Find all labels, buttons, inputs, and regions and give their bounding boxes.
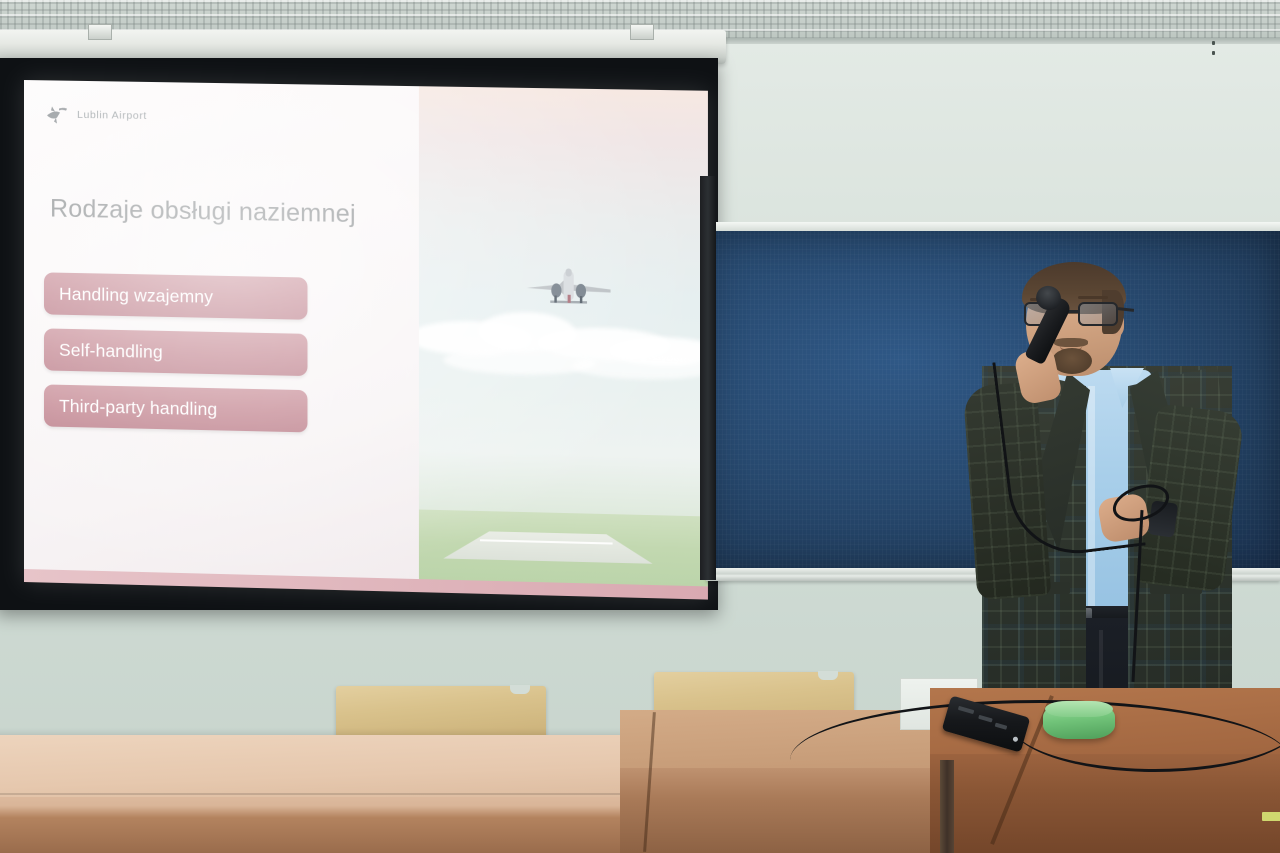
roller-bracket-left <box>88 24 112 40</box>
chair-left <box>336 686 546 738</box>
wall-screw-icon <box>1212 51 1215 55</box>
upper-right-wall <box>700 44 1280 234</box>
table-back-surface <box>0 735 720 797</box>
slide-title: Rodzaje obsługi naziemnej <box>50 194 393 229</box>
chair-notch <box>510 685 530 694</box>
slide-pill-item: Handling wzajemny <box>44 272 307 319</box>
slide-pill-label: Third-party handling <box>59 395 217 420</box>
slide-left-pane: Lublin Airport Rodzaje obsługi naziemnej… <box>24 80 419 592</box>
presenter <box>960 258 1260 698</box>
remote-button <box>958 706 974 714</box>
slide-pill-item: Self-handling <box>44 328 307 376</box>
slide-pill-label: Handling wzajemny <box>59 283 213 307</box>
roller-bracket-right <box>630 24 654 40</box>
airplane-icon <box>525 268 613 314</box>
remote-button <box>978 715 993 723</box>
glasses-temple <box>1118 307 1134 311</box>
board-eraser-top <box>1045 701 1113 717</box>
wall-screw-icon <box>1212 41 1215 45</box>
board-left-post <box>700 176 716 580</box>
table-label-tag <box>1262 812 1280 821</box>
remote-button <box>995 723 1008 730</box>
projector-screen: Lublin Airport Rodzaje obsługi naziemnej… <box>0 58 718 610</box>
screen-surface: Lublin Airport Rodzaje obsługi naziemnej… <box>0 58 718 610</box>
slide-logo-text: Lublin Airport <box>77 109 147 122</box>
projected-slide: Lublin Airport Rodzaje obsługi naziemnej… <box>24 80 708 600</box>
slide-pill-label: Self-handling <box>59 339 163 362</box>
slide-pill-list: Handling wzajemny Self-handling Third-pa… <box>44 272 307 446</box>
slide-logo: Lublin Airport <box>44 102 147 128</box>
slide-pill-item: Third-party handling <box>44 384 307 432</box>
bird-swift-logo-icon <box>44 102 70 126</box>
presentation-room-scene: Lublin Airport Rodzaje obsługi naziemnej… <box>0 0 1280 853</box>
presenter-brow-right <box>1078 296 1108 299</box>
glasses-lens-right <box>1078 302 1118 326</box>
slide-photo-airplane <box>419 86 708 599</box>
table-leg <box>940 760 954 853</box>
chair-notch <box>818 671 838 680</box>
remote-indicator-light <box>1012 736 1018 742</box>
table-back-edge <box>0 793 720 795</box>
